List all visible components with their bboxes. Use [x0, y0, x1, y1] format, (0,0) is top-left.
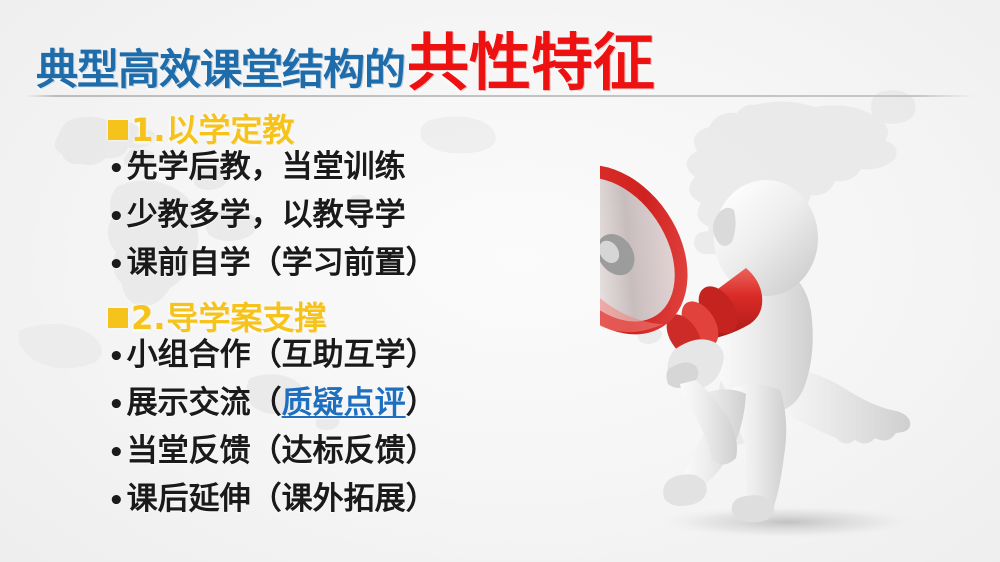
content-column: 1. 以学定教 • 先学后教，当堂训练 • 少教多学，以教导学 • 课前自学（学…: [108, 108, 578, 532]
section-number-2: 2.: [131, 302, 165, 334]
page-title: 典型高效课堂结构的 共性特征: [36, 12, 655, 102]
list-item-label: 少教多学，以教导学: [127, 200, 406, 231]
dot-bullet-icon: •: [108, 252, 125, 278]
list-item-label-post: ）: [406, 388, 437, 419]
list-item: • 课前自学（学习前置）: [108, 248, 578, 296]
section-heading-2: 2. 导学案支撑: [108, 296, 578, 340]
list-item-label: 小组合作（互助互学）: [127, 340, 437, 371]
square-bullet-icon: [108, 308, 128, 328]
square-bullet-icon: [108, 120, 128, 140]
dot-bullet-icon: •: [108, 440, 125, 466]
dot-bullet-icon: •: [108, 204, 125, 230]
list-item-label: 课前自学（学习前置）: [127, 248, 437, 279]
section-title-2: 导学案支撑: [166, 302, 326, 334]
dot-bullet-icon: •: [108, 392, 125, 418]
list-item: • 当堂反馈（达标反馈）: [108, 436, 578, 484]
list-item: • 先学后教，当堂训练: [108, 152, 578, 200]
dot-bullet-icon: •: [108, 488, 125, 514]
title-emphasis: 共性特征: [407, 12, 655, 102]
slide-canvas: 典型高效课堂结构的 共性特征 1. 以学定教 • 先学后教，当堂训练 • 少教多…: [0, 0, 1000, 562]
list-item-label: 先学后教，当堂训练: [127, 152, 406, 183]
list-item-label-pre: 展示交流（: [127, 388, 282, 419]
dot-bullet-icon: •: [108, 156, 125, 182]
section-number-1: 1.: [131, 114, 165, 146]
list-item-label: 当堂反馈（达标反馈）: [127, 436, 437, 467]
list-item: • 小组合作（互助互学）: [108, 340, 578, 388]
list-item-label: 课后延伸（课外拓展）: [127, 484, 437, 515]
list-item: • 课后延伸（课外拓展）: [108, 484, 578, 532]
list-item: • 少教多学，以教导学: [108, 200, 578, 248]
section-title-1: 以学定教: [166, 114, 294, 146]
mannequin-megaphone-illustration: [600, 92, 1000, 562]
title-lead: 典型高效课堂结构的: [36, 36, 405, 97]
dot-bullet-icon: •: [108, 344, 125, 370]
highlighted-term[interactable]: 质疑点评: [282, 388, 406, 419]
section-heading-1: 1. 以学定教: [108, 108, 578, 152]
list-item: • 展示交流（ 质疑点评 ）: [108, 388, 578, 436]
